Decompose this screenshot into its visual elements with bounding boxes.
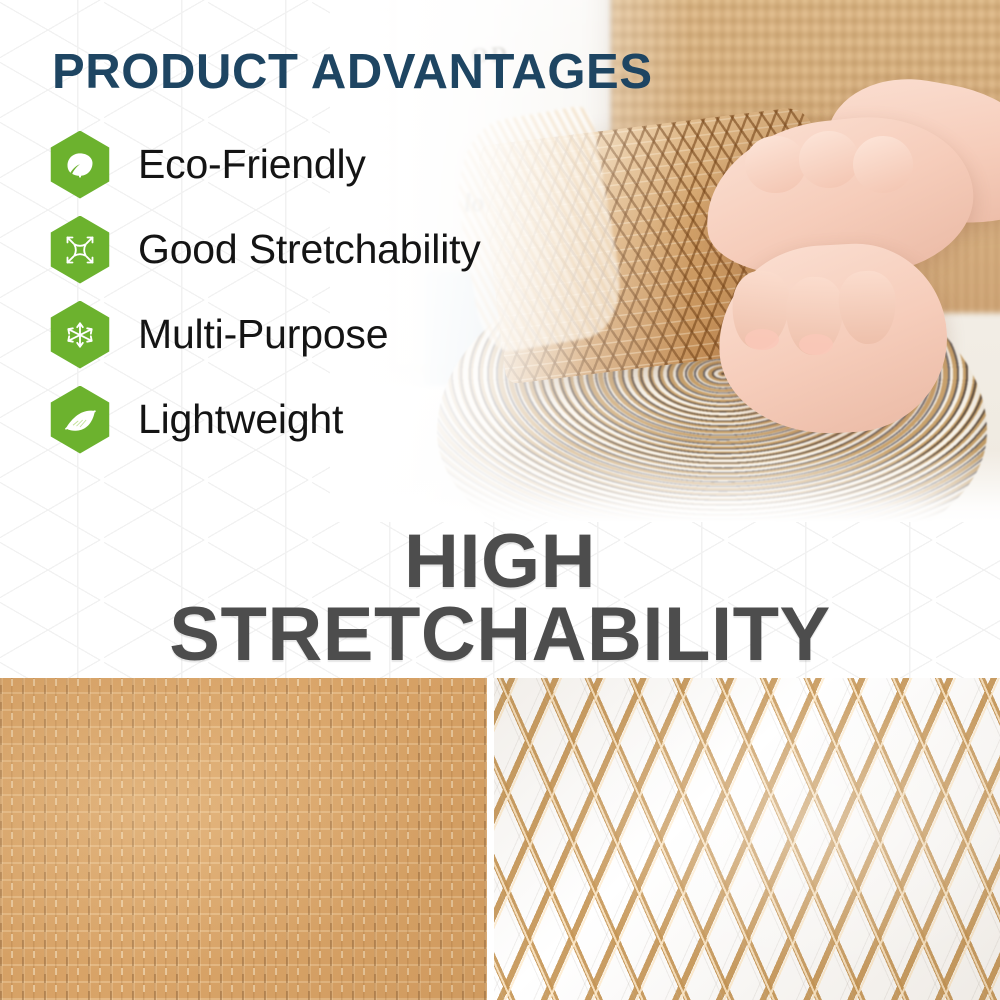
multi-arrows-icon bbox=[46, 301, 114, 369]
feature-label: Lightweight bbox=[138, 396, 343, 443]
feather-icon bbox=[46, 386, 114, 454]
unstretched-kraft-paper-panel bbox=[0, 678, 487, 1000]
feature-item-good-stretchability: Good Stretchability bbox=[46, 207, 481, 292]
photo-knuckle bbox=[799, 131, 859, 188]
honeycomb-mesh-shading bbox=[494, 678, 1000, 1000]
panel-divider bbox=[487, 678, 494, 1000]
feature-item-lightweight: Lightweight bbox=[46, 377, 481, 462]
stretch-arrows-icon bbox=[46, 216, 114, 284]
stretched-honeycomb-mesh-panel bbox=[494, 678, 1000, 1000]
heading-line-1: HIGH bbox=[404, 526, 596, 599]
feature-list: Eco-Friendly Good Stretchability bbox=[46, 122, 481, 462]
photo-fingernail bbox=[799, 334, 833, 355]
high-stretchability-heading: HIGH STRETCHABILITY bbox=[0, 520, 1000, 678]
feature-label: Eco-Friendly bbox=[138, 141, 366, 188]
feature-label: Multi-Purpose bbox=[138, 311, 388, 358]
product-advantages-infographic: OD love PR bbox=[0, 0, 1000, 1000]
feature-item-multi-purpose: Multi-Purpose bbox=[46, 292, 481, 377]
page-title: PRODUCT ADVANTAGES bbox=[52, 48, 653, 97]
kraft-paper-shading bbox=[0, 678, 487, 1000]
photo-knuckle bbox=[745, 136, 805, 193]
feature-label: Good Stretchability bbox=[138, 226, 481, 273]
feature-item-eco-friendly: Eco-Friendly bbox=[46, 122, 481, 207]
photo-fingernail bbox=[745, 329, 779, 350]
leaf-icon bbox=[46, 131, 114, 199]
heading-line-2: STRETCHABILITY bbox=[169, 599, 830, 672]
photo-knuckle bbox=[853, 136, 913, 193]
comparison-panels bbox=[0, 678, 1000, 1000]
